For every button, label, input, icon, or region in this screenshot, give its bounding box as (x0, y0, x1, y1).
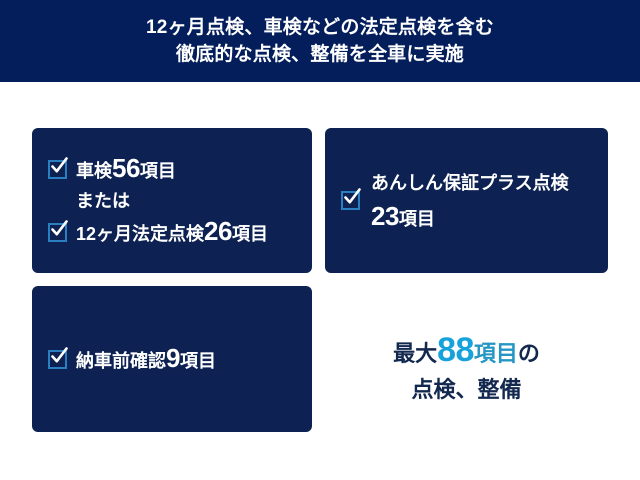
shaken-inspection-card: 車検56項目 または 12ヶ月法定点検26項目 (32, 128, 312, 273)
label-number: 26 (204, 216, 232, 246)
summary-line-2: 点検、整備 (411, 375, 521, 405)
summary-unit: 項目 (474, 341, 518, 366)
label-prefix: 12ヶ月法定点検 (76, 224, 204, 244)
list-item-label: 車検56項目 (76, 156, 176, 183)
label-number: 56 (112, 153, 140, 183)
anshin-warranty-card-body: あんしん保証プラス点検 23項目 (325, 128, 608, 273)
anshin-warranty-count: 23項目 (371, 204, 569, 231)
checkbox-checked-icon (341, 191, 360, 210)
checkbox-checked-icon (48, 223, 67, 242)
header-title-line-2: 徹底的な点検、整備を全車に実施 (176, 41, 464, 68)
label-suffix: 項目 (180, 351, 216, 371)
shaken-inspection-row-list: 車検56項目 または 12ヶ月法定点検26項目 (48, 156, 268, 246)
anshin-warranty-card: あんしん保証プラス点検 23項目 (325, 128, 608, 273)
label-suffix: 項目 (140, 161, 176, 181)
label-suffix: 項目 (399, 209, 435, 229)
checkbox-checked-icon (48, 160, 67, 179)
summary-suffix: の (518, 341, 540, 366)
summary-number: 88 (437, 331, 474, 369)
list-item: 納車前確認9項目 (48, 346, 216, 373)
pre-delivery-check-card: 納車前確認9項目 (32, 286, 312, 432)
list-item: 車検56項目 (48, 156, 268, 183)
header-title-line-1: 12ヶ月点検、車検などの法定点検を含む (146, 14, 494, 41)
anshin-warranty-row: あんしん保証プラス点検 23項目 (341, 171, 569, 231)
pre-delivery-row-list: 納車前確認9項目 (48, 346, 216, 373)
label-prefix: 納車前確認 (76, 351, 166, 371)
pre-delivery-check-card-body: 納車前確認9項目 (32, 286, 312, 432)
label-suffix: 項目 (232, 224, 268, 244)
checkbox-checked-icon (48, 350, 67, 369)
list-item: 12ヶ月法定点検26項目 (48, 219, 268, 246)
label-number: 9 (166, 343, 180, 373)
summary-line-1: 最大88項目の (393, 335, 540, 369)
list-item: または (48, 189, 268, 213)
shaken-inspection-card-body: 車検56項目 または 12ヶ月法定点検26項目 (32, 128, 312, 273)
label-prefix: 車検 (76, 161, 112, 181)
anshin-warranty-label: あんしん保証プラス点検 (371, 171, 569, 195)
list-item-label: または (76, 189, 130, 213)
summary-prefix: 最大 (393, 341, 437, 366)
anshin-warranty-text-lines: あんしん保証プラス点検 23項目 (371, 171, 569, 231)
list-item-label: 12ヶ月法定点検26項目 (76, 219, 268, 246)
header-banner: 12ヶ月点検、車検などの法定点検を含む 徹底的な点検、整備を全車に実施 (0, 0, 640, 82)
total-items-summary: 最大88項目の 点検、整備 (325, 320, 608, 420)
label-number: 23 (371, 201, 399, 231)
list-item-label: 納車前確認9項目 (76, 346, 216, 373)
